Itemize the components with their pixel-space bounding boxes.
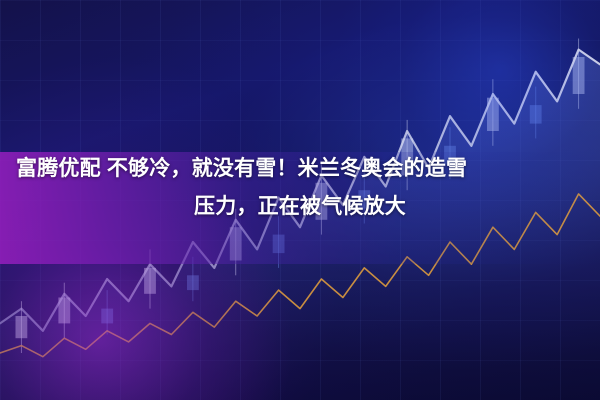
headline-line-1: 富腾优配 不够冷，就没有雪！米兰冬奥会的造雪 [16, 150, 584, 188]
headline-text: 富腾优配 不够冷，就没有雪！米兰冬奥会的造雪 压力，正在被气候放大 [0, 150, 600, 226]
headline-line-2: 压力，正在被气候放大 [16, 188, 584, 226]
promo-banner: 富腾优配 不够冷，就没有雪！米兰冬奥会的造雪 压力，正在被气候放大 [0, 0, 600, 400]
